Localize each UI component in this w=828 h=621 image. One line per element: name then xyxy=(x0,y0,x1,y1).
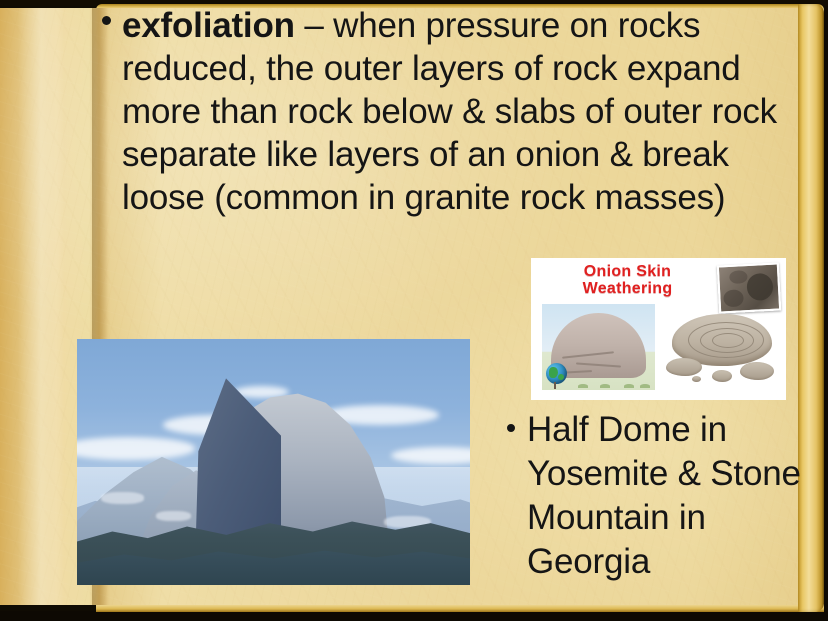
diagram-title-line-1: Onion Skin xyxy=(531,263,724,280)
photo-cloud xyxy=(77,437,195,459)
cartoon-grass-tuft xyxy=(600,384,610,388)
rock-fragment xyxy=(692,376,701,382)
rock-texture-blob xyxy=(724,289,745,308)
slide-canvas: exfoliation – when pressure on rocks red… xyxy=(0,0,828,621)
rock-texture-blob xyxy=(746,273,774,302)
rock-fragment xyxy=(712,370,732,382)
slide-content: exfoliation – when pressure on rocks red… xyxy=(0,0,828,621)
photo-snow-patch xyxy=(156,511,191,521)
rock-onion-layer-ring xyxy=(712,333,744,348)
dome-rock-illustration xyxy=(542,304,655,390)
exfoliating-rock-illustration xyxy=(666,314,778,386)
term-exfoliation: exfoliation xyxy=(122,6,295,45)
rock-texture-blob xyxy=(729,270,747,284)
photo-snow-patch xyxy=(101,492,144,504)
cartoon-grass-tuft xyxy=(640,384,650,388)
bullet-dot-icon xyxy=(507,424,515,432)
diagram-title-line-2: Weathering xyxy=(531,280,724,297)
main-bullet-text: exfoliation – when pressure on rocks red… xyxy=(100,4,812,219)
rock-fragment xyxy=(666,358,702,376)
rock-fragment xyxy=(740,362,774,380)
half-dome-photo xyxy=(77,339,470,585)
globe-icon xyxy=(546,363,567,384)
cartoon-grass-tuft xyxy=(624,384,634,388)
cartoon-grass-tuft xyxy=(578,384,588,388)
diagram-title: Onion Skin Weathering xyxy=(531,263,724,297)
bullet-dot-icon xyxy=(102,16,111,25)
weathered-rock-photo-inset xyxy=(717,262,781,313)
globe-stand xyxy=(554,382,556,389)
location-bullet-paragraph: Half Dome in Yosemite & Stone Mountain i… xyxy=(505,408,820,584)
onion-skin-weathering-diagram: Onion Skin Weathering xyxy=(531,258,786,400)
main-bullet-paragraph: exfoliation – when pressure on rocks red… xyxy=(100,4,812,219)
location-bullet-text: Half Dome in Yosemite & Stone Mountain i… xyxy=(505,408,820,584)
